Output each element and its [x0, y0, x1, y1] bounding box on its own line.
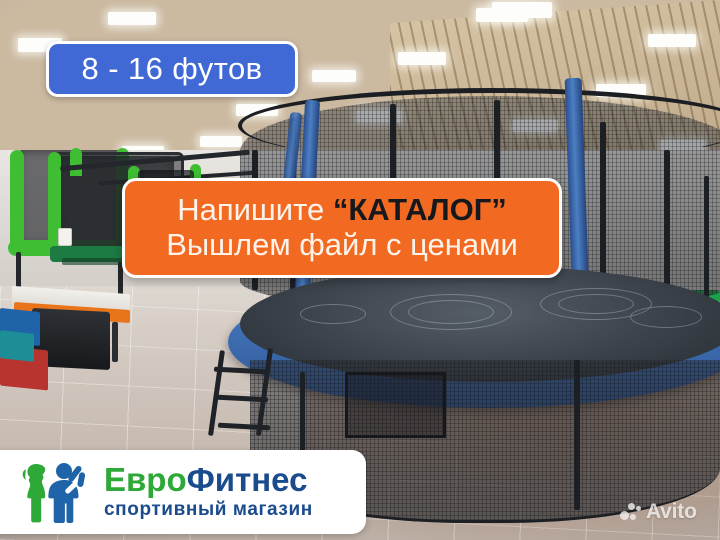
cta-line-1: Напишите “КАТАЛОГ”	[177, 193, 507, 228]
cta-keyword: “КАТАЛОГ”	[333, 192, 507, 227]
cta-badge: Напишите “КАТАЛОГ” Вышлем файл с ценами	[122, 178, 562, 278]
brand-name-part1: Евро	[104, 461, 187, 498]
brand-logo-plate: ЕвроФитнес спортивный магазин	[0, 450, 366, 534]
size-badge: 8 - 16 футов	[46, 41, 298, 97]
brand-name-part2: Фитнес	[187, 461, 308, 498]
size-badge-label: 8 - 16 футов	[82, 51, 263, 87]
cta-line-2: Вышлем файл с ценами	[166, 228, 518, 263]
advertisement-image: 8 - 16 футов Напишите “КАТАЛОГ” Вышлем ф…	[0, 0, 720, 540]
brand-text-block: ЕвроФитнес спортивный магазин	[104, 463, 313, 521]
brand-name: ЕвроФитнес	[104, 463, 313, 496]
avito-watermark: Avito	[620, 500, 697, 524]
two-athletes-icon	[14, 460, 100, 524]
cta-line-1-prefix: Напишите	[177, 192, 333, 227]
avito-label: Avito	[646, 500, 697, 524]
avito-dots-icon	[620, 502, 641, 523]
brand-tagline: спортивный магазин	[104, 499, 313, 521]
